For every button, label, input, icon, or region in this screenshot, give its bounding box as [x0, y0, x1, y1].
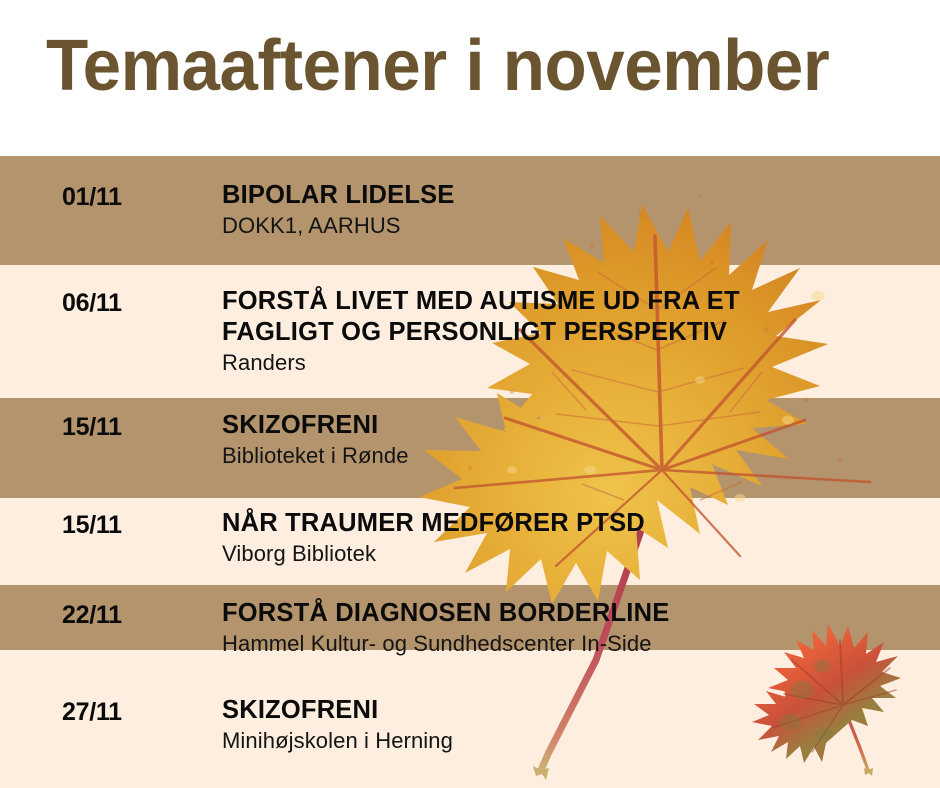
event-date: 15/11: [62, 511, 122, 540]
event-row[interactable]: 01/11 BIPOLAR LIDELSE DOKK1, AARHUS: [0, 156, 940, 265]
event-title: NÅR TRAUMER MEDFØRER PTSD: [222, 508, 930, 539]
event-row[interactable]: 06/11 FORSTÅ LIVET MED AUTISME UD FRA ET…: [0, 265, 940, 398]
event-date: 06/11: [62, 289, 122, 318]
event-date: 15/11: [62, 413, 122, 442]
event-info: FORSTÅ DIAGNOSEN BORDERLINE Hammel Kultu…: [222, 598, 930, 658]
event-venue: Viborg Bibliotek: [222, 540, 930, 568]
poster-canvas: Temaaftener i november 01/11 BIPOLAR LID…: [0, 0, 940, 788]
event-info: NÅR TRAUMER MEDFØRER PTSD Viborg Bibliot…: [222, 508, 930, 568]
event-info: SKIZOFRENI Minihøjskolen i Herning: [222, 695, 930, 755]
event-venue: Minihøjskolen i Herning: [222, 727, 930, 755]
event-row[interactable]: 22/11 FORSTÅ DIAGNOSEN BORDERLINE Hammel…: [0, 585, 940, 650]
event-title: SKIZOFRENI: [222, 410, 930, 441]
event-title: SKIZOFRENI: [222, 695, 930, 726]
event-row[interactable]: 15/11 NÅR TRAUMER MEDFØRER PTSD Viborg B…: [0, 498, 940, 585]
event-info: SKIZOFRENI Biblioteket i Rønde: [222, 410, 930, 470]
event-row[interactable]: 15/11 SKIZOFRENI Biblioteket i Rønde: [0, 398, 940, 498]
poster-header: Temaaftener i november: [0, 0, 940, 156]
event-title: FORSTÅ LIVET MED AUTISME UD FRA ET: [222, 286, 930, 317]
event-date: 27/11: [62, 698, 122, 727]
event-title-line2: FAGLIGT OG PERSONLIGT PERSPEKTIV: [222, 317, 930, 348]
event-venue: Biblioteket i Rønde: [222, 442, 930, 470]
event-date: 01/11: [62, 183, 122, 212]
event-info: BIPOLAR LIDELSE DOKK1, AARHUS: [222, 180, 930, 240]
event-venue: DOKK1, AARHUS: [222, 212, 930, 240]
event-date: 22/11: [62, 601, 122, 630]
event-venue: Randers: [222, 349, 930, 377]
event-info: FORSTÅ LIVET MED AUTISME UD FRA ET FAGLI…: [222, 286, 930, 377]
event-title: BIPOLAR LIDELSE: [222, 180, 930, 211]
page-title: Temaaftener i november: [46, 26, 829, 106]
event-row[interactable]: 27/11 SKIZOFRENI Minihøjskolen i Herning: [0, 650, 940, 788]
event-title: FORSTÅ DIAGNOSEN BORDERLINE: [222, 598, 930, 629]
